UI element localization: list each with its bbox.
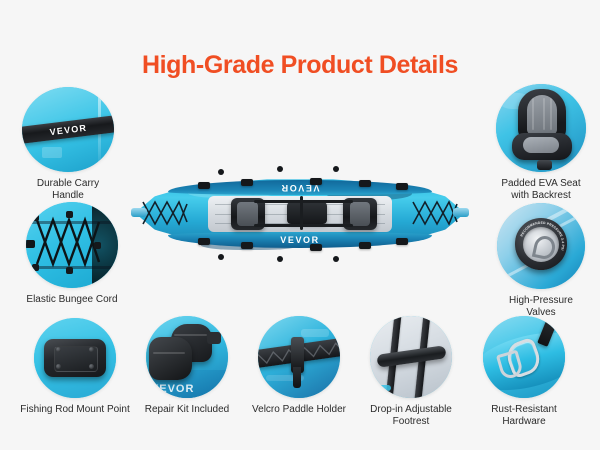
eva-seat-base-pad bbox=[523, 137, 559, 153]
footrest-photo bbox=[370, 316, 452, 398]
product-image-kayak: VEVOR VEVOR bbox=[135, 152, 465, 274]
feature-valves: RECOMMENDED PRESSURE 3.4 PSI High-Pressu… bbox=[497, 203, 585, 319]
paddle-holder-photo bbox=[258, 316, 340, 398]
bungee-cord-label: Elastic Bungee Cord bbox=[26, 294, 118, 306]
rod-mount-plate bbox=[44, 339, 106, 377]
repair-kit-photo: VEVOR bbox=[146, 316, 228, 398]
feature-eva-seat: Padded EVA Seat with Backrest bbox=[496, 84, 586, 202]
eva-seat-label-line2: with Backrest bbox=[511, 190, 570, 201]
eva-seat-photo bbox=[496, 84, 586, 172]
footrest-label: Drop-in Adjustable Footrest bbox=[352, 404, 470, 428]
repair-kit-bag-lower bbox=[149, 337, 192, 380]
eva-seat-label-line1: Padded EVA Seat bbox=[501, 178, 580, 189]
rod-mount-photo bbox=[34, 318, 116, 398]
infographic-canvas: High-Grade Product Details VEVOR VEVOR bbox=[0, 0, 600, 450]
kayak-bungee-right bbox=[411, 198, 459, 228]
valve-inner-disc bbox=[523, 227, 559, 262]
feature-hardware: Rust-Resistant Hardware bbox=[483, 316, 565, 428]
kayak-center-cushion bbox=[287, 202, 327, 224]
paddle-holder-label: Velcro Paddle Holder bbox=[241, 404, 357, 416]
hardware-label-line1: Rust-Resistant bbox=[491, 404, 557, 415]
valve-cap: RECOMMENDED PRESSURE 3.4 PSI bbox=[515, 218, 568, 270]
feature-carry-handle: VEVOR Durable Carry Handle bbox=[22, 87, 114, 202]
kayak-bungee-left bbox=[141, 198, 189, 228]
feature-paddle-holder: Velcro Paddle Holder bbox=[258, 316, 340, 416]
kayak-bow-tip bbox=[131, 208, 147, 217]
feature-rod-mount: Fishing Rod Mount Point bbox=[34, 318, 116, 416]
feature-footrest: Drop-in Adjustable Footrest bbox=[370, 316, 452, 428]
footrest-label-line1: Drop-in Adjustable bbox=[370, 404, 452, 415]
feature-repair-kit: VEVOR Repair Kit Included bbox=[146, 316, 228, 416]
footrest-label-line2: Footrest bbox=[393, 416, 430, 427]
kayak-stern-tip bbox=[453, 208, 469, 217]
repair-kit-deck-brand: VEVOR bbox=[151, 383, 195, 395]
repair-kit-label: Repair Kit Included bbox=[131, 404, 243, 416]
paddle-holder-tail bbox=[293, 367, 301, 388]
carry-handle-label: Durable Carry Handle bbox=[22, 178, 114, 202]
hardware-photo bbox=[483, 316, 565, 398]
hardware-label: Rust-Resistant Hardware bbox=[468, 404, 580, 428]
bungee-cord-photo bbox=[26, 202, 118, 288]
rod-mount-label: Fishing Rod Mount Point bbox=[16, 404, 134, 416]
valve-photo: RECOMMENDED PRESSURE 3.4 PSI bbox=[497, 203, 585, 289]
eva-seat-buckle bbox=[537, 160, 551, 171]
carry-handle-brand: VEVOR bbox=[49, 122, 87, 136]
page-title: High-Grade Product Details bbox=[0, 51, 600, 80]
eva-seat-label: Padded EVA Seat with Backrest bbox=[496, 178, 586, 202]
hardware-label-line2: Hardware bbox=[502, 416, 545, 427]
feature-bungee-cord: Elastic Bungee Cord bbox=[26, 202, 118, 306]
carry-handle-photo: VEVOR bbox=[22, 87, 114, 172]
